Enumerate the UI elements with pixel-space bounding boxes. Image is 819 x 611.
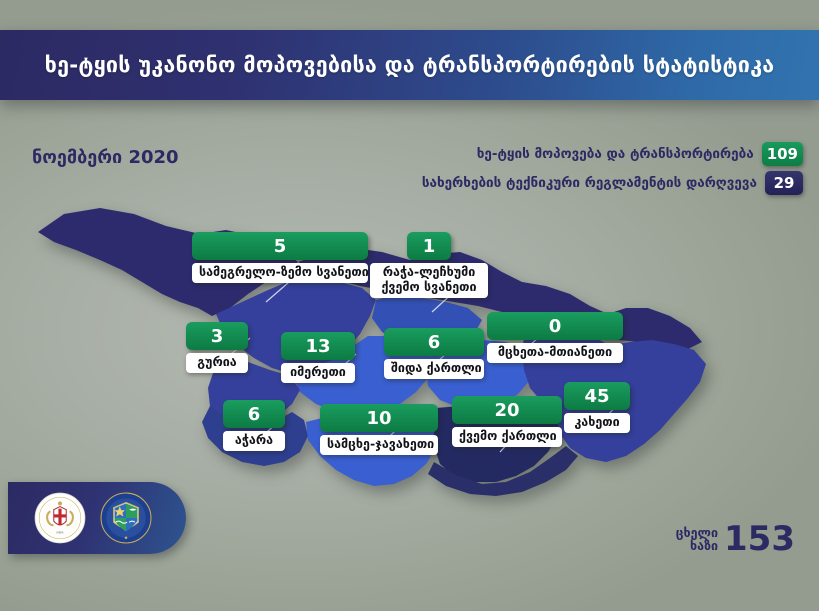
region-label-imereti: იმერეთი (281, 363, 355, 383)
region-label-adjara: აჭარა (223, 431, 285, 451)
region-label-samtskhe: სამცხე-ჯავახეთი (320, 435, 438, 455)
hotline-label: ცხელი ხაზი (676, 527, 718, 553)
region-label-racha: რაჭა-ლეჩხუმი ქვემო სვანეთი (370, 263, 488, 298)
region-label-mtskheta: მცხეთა-მთიანეთი (487, 343, 623, 363)
region-label-kvemo-kartli: ქვემო ქართლი (452, 427, 562, 447)
ministry-of-environmental-protection-and-agriculture-emblem: MEPA (34, 492, 86, 544)
region-marker-guria[interactable]: 3 გურია (186, 322, 248, 373)
legend-label-violations: ხე-ტყის მოპოვება და ტრანსპორტირება (477, 146, 754, 162)
region-value-shida-kartli: 6 (384, 328, 484, 356)
region-marker-adjara[interactable]: 6 აჭარა (223, 400, 285, 451)
region-value-samegrelo: 5 (192, 232, 368, 260)
legend-item-violations: ხე-ტყის მოპოვება და ტრანსპორტირება 109 (323, 142, 803, 166)
page-title: ხე-ტყის უკანონო მოპოვებისა და ტრანსპორტი… (45, 53, 775, 78)
infographic-root: ხე-ტყის უკანონო მოპოვებისა და ტრანსპორტი… (0, 0, 819, 611)
legend-label-sawmills: სახერხების ტექნიკური რეგლამენტის დარღვევ… (422, 175, 757, 191)
legend-badge-violations: 109 (762, 142, 803, 166)
region-marker-shida-kartli[interactable]: 6 შიდა ქართლი (384, 328, 484, 379)
region-marker-imereti[interactable]: 13 იმერეთი (281, 332, 355, 383)
region-value-imereti: 13 (281, 332, 355, 360)
date-label: ნოემბერი 2020 (32, 147, 179, 168)
region-marker-kakheti[interactable]: 45 კახეთი (564, 382, 630, 433)
hotline-number: 153 (724, 524, 795, 555)
region-marker-mtskheta[interactable]: 0 მცხეთა-მთიანეთი (487, 312, 623, 363)
region-value-mtskheta: 0 (487, 312, 623, 340)
logo-plate: MEPA (8, 482, 186, 554)
region-marker-racha[interactable]: 1 რაჭა-ლეჩხუმი ქვემო სვანეთი (370, 232, 488, 298)
hotline-label-line2: ხაზი (676, 540, 718, 553)
region-label-guria: გურია (186, 353, 248, 373)
svg-text:MEPA: MEPA (56, 531, 63, 535)
header-banner: ხე-ტყის უკანონო მოპოვებისა და ტრანსპორტი… (0, 30, 819, 100)
region-value-kakheti: 45 (564, 382, 630, 410)
region-value-guria: 3 (186, 322, 248, 350)
region-label-kakheti: კახეთი (564, 413, 630, 433)
region-marker-samtskhe[interactable]: 10 სამცხე-ჯავახეთი (320, 404, 438, 455)
region-value-adjara: 6 (223, 400, 285, 428)
region-label-shida-kartli: შიდა ქართლი (384, 359, 484, 379)
region-value-samtskhe: 10 (320, 404, 438, 432)
department-of-environmental-supervision-emblem (100, 492, 152, 544)
hotline: ცხელი ხაზი 153 (676, 524, 795, 555)
region-value-kvemo-kartli: 20 (452, 396, 562, 424)
region-marker-samegrelo[interactable]: 5 სამეგრელო-ზემო სვანეთი (192, 232, 368, 283)
region-value-racha: 1 (407, 232, 451, 260)
region-marker-kvemo-kartli[interactable]: 20 ქვემო ქართლი (452, 396, 562, 447)
region-label-samegrelo: სამეგრელო-ზემო სვანეთი (192, 263, 368, 283)
